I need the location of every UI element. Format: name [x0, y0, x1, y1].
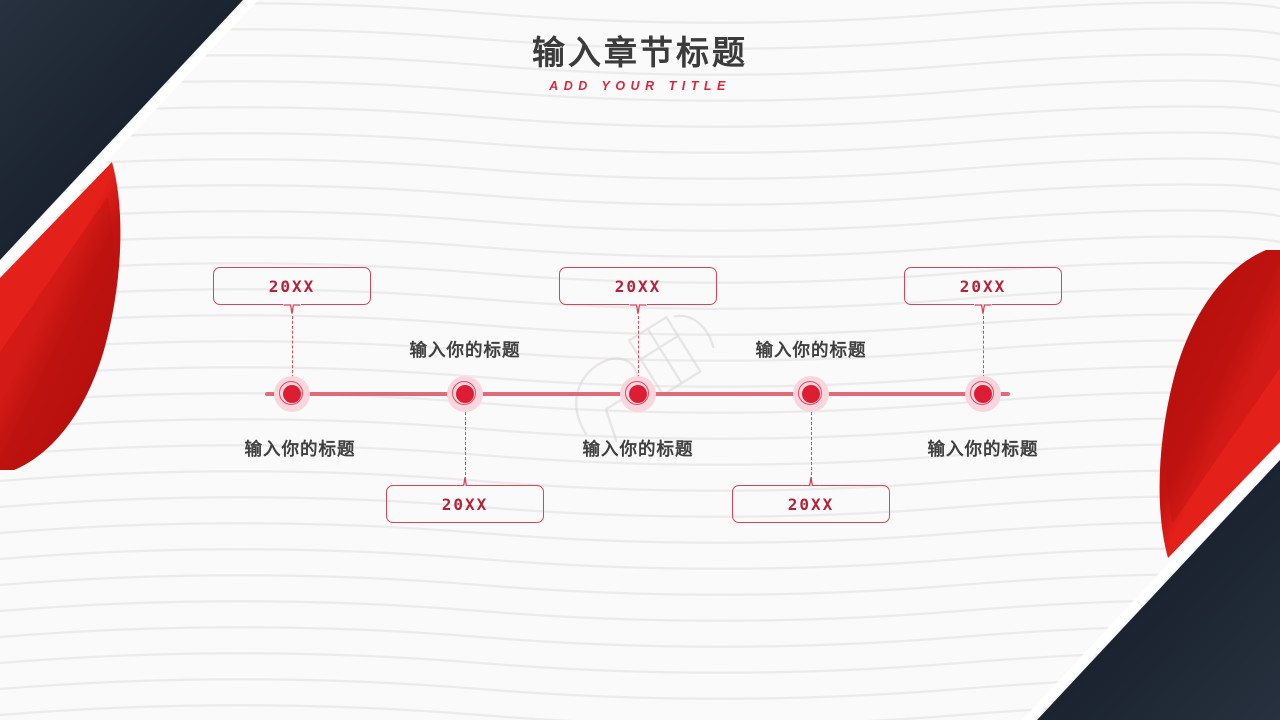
node-label-3: 输入你的标题 — [583, 436, 694, 461]
connector-4 — [811, 412, 812, 485]
node-dot-1 — [283, 385, 301, 403]
node-label-2: 输入你的标题 — [410, 337, 521, 362]
connector-3 — [638, 316, 639, 378]
timeline: 20XX 输入你的标题 输入你的标题 20XX — [0, 0, 1280, 720]
connector-1 — [292, 316, 293, 378]
node-label-5: 输入你的标题 — [928, 436, 1039, 461]
callout-pointer-down-icon — [283, 304, 301, 314]
timeline-node-4[interactable] — [793, 376, 829, 412]
callout-pointer-down-icon — [629, 304, 647, 314]
node-dot-5 — [974, 385, 992, 403]
year-value-5: 20XX — [960, 277, 1007, 296]
node-label-1: 输入你的标题 — [245, 436, 356, 461]
callout-pointer-up-icon — [802, 476, 820, 486]
slide-canvas: 输入章节标题 ADD YOUR TITLE 20XX 输入你的标题 输入你的标题 — [0, 0, 1280, 720]
timeline-node-1[interactable] — [274, 376, 310, 412]
year-callout-3[interactable]: 20XX — [559, 267, 717, 305]
node-dot-3 — [629, 385, 647, 403]
year-callout-2[interactable]: 20XX — [386, 485, 544, 523]
callout-pointer-down-icon — [974, 304, 992, 314]
connector-2 — [465, 412, 466, 485]
node-label-4: 输入你的标题 — [756, 337, 867, 362]
timeline-node-2[interactable] — [447, 376, 483, 412]
node-dot-2 — [456, 385, 474, 403]
slide-header: 输入章节标题 ADD YOUR TITLE — [0, 32, 1280, 93]
timeline-node-3[interactable] — [620, 376, 656, 412]
page-title: 输入章节标题 — [0, 32, 1280, 73]
year-callout-4[interactable]: 20XX — [732, 485, 890, 523]
timeline-node-5[interactable] — [965, 376, 1001, 412]
year-callout-1[interactable]: 20XX — [213, 267, 371, 305]
callout-pointer-up-icon — [456, 476, 474, 486]
year-value-1: 20XX — [269, 277, 316, 296]
page-subtitle: ADD YOUR TITLE — [0, 79, 1280, 93]
node-dot-4 — [802, 385, 820, 403]
connector-5 — [983, 316, 984, 378]
year-value-2: 20XX — [442, 495, 489, 514]
year-callout-5[interactable]: 20XX — [904, 267, 1062, 305]
year-value-4: 20XX — [788, 495, 835, 514]
year-value-3: 20XX — [615, 277, 662, 296]
